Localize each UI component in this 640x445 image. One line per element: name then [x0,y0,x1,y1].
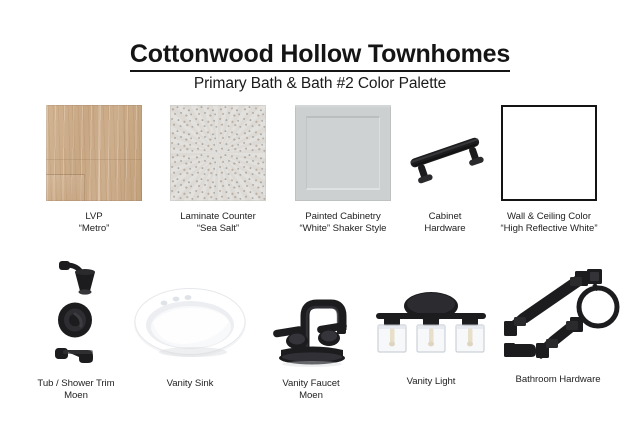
item-tub-shower-trim[interactable]: Tub / Shower Trim Moen [14,252,138,403]
caption-line1: Laminate Counter [180,211,255,222]
caption-line1: Cabinet [429,211,462,222]
item-painted-cabinetry[interactable]: Painted Cabinetry “White” Shaker Style [281,105,405,236]
page-subtitle: Primary Bath & Bath #2 Color Palette [0,75,640,93]
wood-plank-swatch [46,105,142,201]
caption-lvp: LVP “Metro” [79,211,110,236]
caption-line1: Vanity Faucet [282,378,339,389]
caption-line1: Bathroom Hardware [516,374,601,385]
cabinet-door-swatch [295,105,391,201]
item-laminate-counter[interactable]: Laminate Counter “Sea Salt” [155,105,281,236]
caption-line1: Tub / Shower Trim [37,378,114,389]
color-palette-board: Cottonwood Hollow Townhomes Primary Bath… [0,0,640,445]
caption-line1: Vanity Sink [167,378,214,389]
item-wall-ceiling-color[interactable]: Wall & Ceiling Color “High Reflective Wh… [487,105,611,236]
page-title: Cottonwood Hollow Townhomes [0,40,640,69]
caption-line2: “White” Shaker Style [300,223,387,235]
item-vanity-faucet[interactable]: Vanity Faucet Moen [248,272,374,403]
item-cabinet-hardware[interactable]: Cabinet Hardware [400,105,490,236]
caption-cabinet-hardware: Cabinet Hardware [424,211,465,236]
caption-laminate: Laminate Counter “Sea Salt” [180,211,255,236]
caption-line1: Painted Cabinetry [305,211,380,222]
caption-line1: Vanity Light [407,376,456,387]
cabinet-pull-art [401,105,489,201]
vanity-light-icon [370,284,492,360]
cabinet-door-art [295,105,391,201]
door-recessed-panel [306,116,380,190]
vanity-light-art [370,276,492,368]
caption-line2: “High Reflective White” [501,223,598,235]
caption-line1: Wall & Ceiling Color [507,211,591,222]
door-highlight [295,105,391,108]
item-vanity-light[interactable]: Vanity Light [369,276,493,388]
caption-bathroom-hardware: Bathroom Hardware [516,374,601,386]
bar-pull-icon [401,118,489,188]
caption-tub-shower: Tub / Shower Trim Moen [37,378,114,403]
lvp-art [46,105,142,201]
vanity-sink-art [131,272,249,370]
page-title-text: Cottonwood Hollow Townhomes [130,40,510,72]
bathroom-hardware-art [492,258,624,368]
laminate-art [170,105,266,201]
towel-bar-ring-icon [492,259,624,367]
caption-line1: LVP [85,211,102,222]
caption-line2: Moen [37,390,114,402]
caption-vanity-faucet: Vanity Faucet Moen [282,378,339,403]
oval-sink-icon [131,278,249,364]
caption-vanity-sink: Vanity Sink [167,378,214,390]
wall-chip-art [501,105,597,201]
caption-cabinetry: Painted Cabinetry “White” Shaker Style [300,211,387,236]
item-lvp[interactable]: LVP “Metro” [32,105,156,236]
faucet-icon [259,278,363,370]
caption-line2: “Sea Salt” [180,223,255,235]
caption-line2: “Metro” [79,223,110,235]
paint-chip-swatch [501,105,597,201]
showerhead-icon [33,252,119,370]
item-vanity-sink[interactable]: Vanity Sink [127,272,253,390]
tub-shower-trim-art [33,252,119,370]
caption-line2: Hardware [424,223,465,235]
speckled-stone-swatch [170,105,266,201]
caption-vanity-light: Vanity Light [407,376,456,388]
caption-line2: Moen [282,390,339,402]
item-bathroom-hardware[interactable]: Bathroom Hardware [489,258,627,386]
caption-wall-color: Wall & Ceiling Color “High Reflective Wh… [501,211,598,236]
vanity-faucet-art [259,272,363,370]
